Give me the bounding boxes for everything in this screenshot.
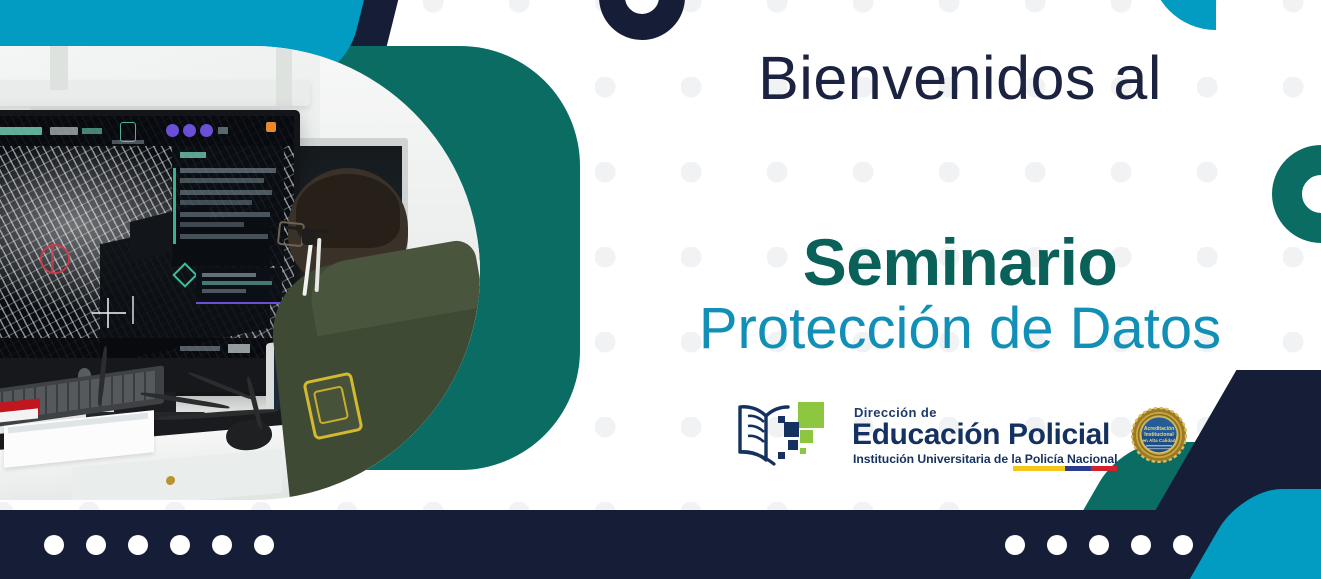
pixel-square-green-b	[800, 448, 806, 454]
flag-stripe-red	[1091, 466, 1117, 471]
svg-text:en Alta Calidad: en Alta Calidad	[1143, 438, 1176, 443]
bottom-dot	[1005, 535, 1025, 555]
bottom-dots-left	[44, 535, 274, 555]
bottom-dot	[1089, 535, 1109, 555]
bottom-dot	[254, 535, 274, 555]
logo-mark	[736, 400, 844, 470]
headline-block: Bienvenidos al Seminario Protección de D…	[640, 48, 1280, 360]
bottom-dot	[44, 535, 64, 555]
institution-logo: Dirección de Educación Policial Instituc…	[736, 398, 1187, 472]
colombia-flag-bar	[1013, 466, 1117, 471]
bottom-dot	[170, 535, 190, 555]
pixel-square-navy-c	[778, 416, 785, 423]
banner-root: Bienvenidos al Seminario Protección de D…	[0, 0, 1321, 579]
seminar-subtitle: Protección de Datos	[640, 299, 1280, 360]
pixel-square-navy-d	[778, 452, 785, 459]
flag-stripe-blue	[1065, 466, 1091, 471]
pixel-square-green-a	[800, 430, 813, 443]
bottom-dot	[1173, 535, 1193, 555]
bottom-dot	[128, 535, 148, 555]
pixel-square-navy-a	[784, 422, 799, 437]
bottom-dot	[1131, 535, 1151, 555]
welcome-text: Bienvenidos al	[640, 48, 1280, 109]
bottom-dots-right	[1005, 535, 1235, 555]
logo-text-block: Dirección de Educación Policial Instituc…	[852, 404, 1117, 465]
accreditation-seal-icon: Acreditación Institucional en Alta Calid…	[1131, 407, 1187, 463]
flag-stripe-yellow	[1013, 466, 1065, 471]
pixel-squares-icon	[798, 402, 824, 428]
seminar-title: Seminario	[640, 229, 1280, 295]
logo-line-institucion: Institución Universitaria de la Policía …	[853, 453, 1117, 465]
logo-line-educacion: Educación Policial	[852, 420, 1117, 450]
pixel-square-navy-b	[788, 440, 798, 450]
bottom-dot	[212, 535, 232, 555]
bottom-dot	[86, 535, 106, 555]
workstation-photo	[0, 46, 480, 500]
bottom-dot	[1047, 535, 1067, 555]
